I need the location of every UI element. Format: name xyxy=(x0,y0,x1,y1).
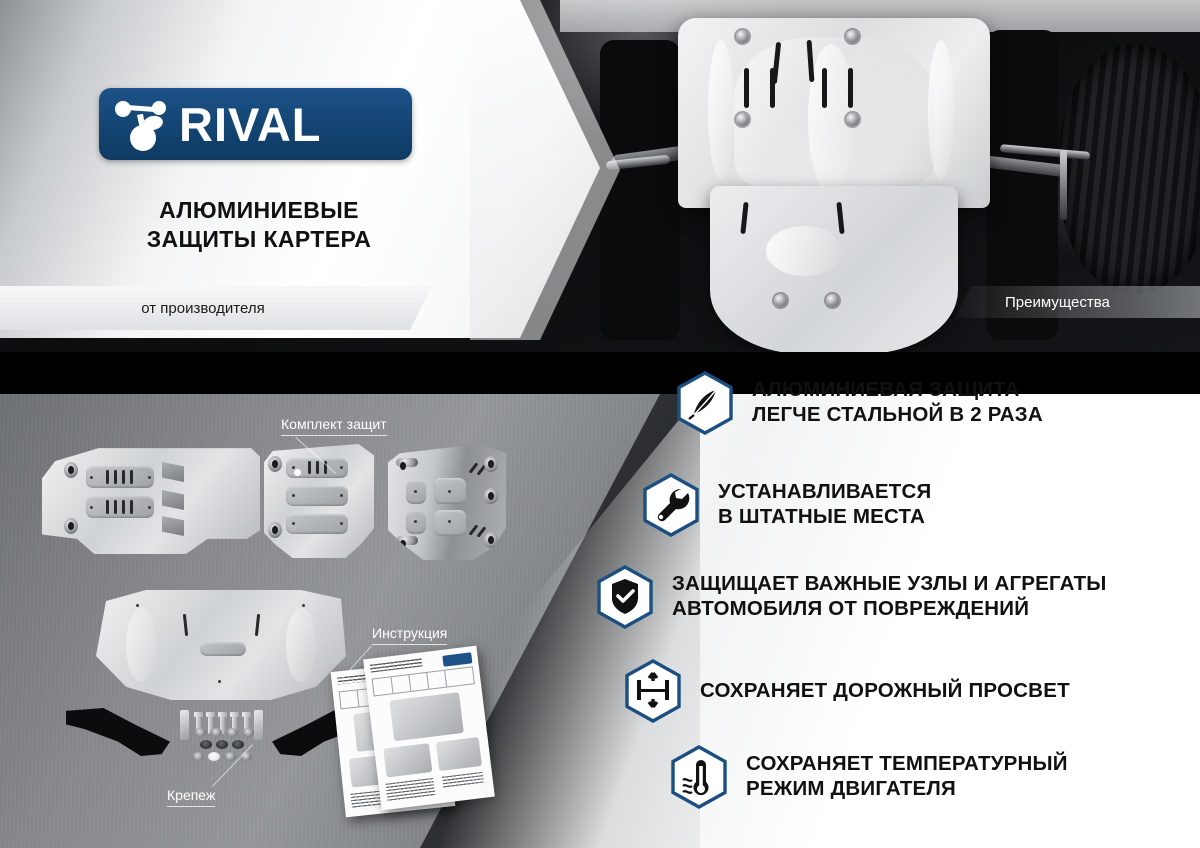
callout-kit-dot xyxy=(294,469,301,476)
plate-mount-eyelet xyxy=(268,456,282,472)
plate-mount-bolt xyxy=(826,294,839,307)
plate-vent-slot xyxy=(807,40,815,82)
plate-pad xyxy=(286,486,348,506)
installed-skid-plate-lower xyxy=(710,186,958,352)
plate-slot xyxy=(106,500,109,514)
plate-mount-bolt xyxy=(846,30,859,43)
plate-hole xyxy=(292,494,295,497)
plate-hole xyxy=(340,522,343,525)
plate-hole xyxy=(90,506,93,509)
plate-hole xyxy=(148,476,151,479)
subtitle-band: от производителя xyxy=(0,286,432,330)
callout-instruction: Инструкция xyxy=(372,625,447,645)
fastener-washer xyxy=(224,752,236,761)
plate-mount-bolt xyxy=(846,113,859,126)
plate-rib xyxy=(708,40,734,180)
mounting-bracket-left xyxy=(66,708,170,756)
plate-slot xyxy=(183,614,188,636)
plate-rib xyxy=(766,226,842,276)
fastener-plate xyxy=(254,710,263,740)
plate-mount-bolt xyxy=(736,30,749,43)
plate-mount-bolt xyxy=(736,113,749,126)
fastener-plate xyxy=(180,710,189,740)
feature-item-3: СОХРАНЯЕТ ДОРОЖНЫЙ ПРОСВЕТ xyxy=(622,658,1070,724)
plate-mount-eyelet xyxy=(64,518,78,534)
plate-slot xyxy=(130,470,133,484)
plate-pad xyxy=(200,642,246,656)
plate-hole xyxy=(148,506,151,509)
plate-slot xyxy=(130,500,133,514)
plate-rib xyxy=(928,40,954,180)
feature-label-0: АЛЮМИНИЕВАЯ ЗАЩИТАЛЕГЧЕ СТАЛЬНОЙ В 2 РАЗ… xyxy=(752,378,1043,427)
plate-gusset xyxy=(162,490,184,510)
page-title-line1: АЛЮМИНИЕВЫЕ xyxy=(99,196,419,225)
plate-mount-eyelet xyxy=(484,456,498,472)
fastener-washer xyxy=(192,752,204,761)
callout-hardware-label: Крепеж xyxy=(167,787,215,803)
rival-logo: RIVAL xyxy=(99,88,412,160)
plate-vent-slot xyxy=(740,202,748,234)
logo-wordmark: RIVAL xyxy=(179,101,322,148)
fastener-washer-dark xyxy=(200,740,212,749)
callout-underline xyxy=(372,644,447,645)
plate-vent-slot xyxy=(836,202,844,234)
plate-vent-slot xyxy=(848,68,853,108)
plate-slot xyxy=(122,500,125,514)
plate-gusset xyxy=(162,462,184,482)
wrench-icon xyxy=(640,472,702,538)
sheet-logo xyxy=(442,652,473,666)
fastener-washer xyxy=(242,728,254,737)
fastener-washer xyxy=(194,728,206,737)
installed-skid-plate-upper xyxy=(678,18,990,208)
plate-slot xyxy=(106,470,109,484)
plate-vent-slot xyxy=(744,68,749,108)
shield-check-icon xyxy=(594,564,656,630)
callout-underline xyxy=(281,435,387,436)
plate-slot xyxy=(316,461,319,474)
feature-label-3: СОХРАНЯЕТ ДОРОЖНЫЙ ПРОСВЕТ xyxy=(700,679,1070,704)
plate-slot xyxy=(255,614,260,636)
feature-label-2: ЗАЩИЩАЕТ ВАЖНЫЕ УЗЛЫ И АГРЕГАТЫАВТОМОБИЛ… xyxy=(672,572,1107,621)
plate-slot xyxy=(308,461,311,474)
poster-root: RIVAL АЛЮМИНИЕВЫЕ ЗАЩИТЫ КАРТЕРА от прои… xyxy=(0,0,1200,848)
plate-mount-eyelet xyxy=(268,522,282,538)
feature-item-2: ЗАЩИЩАЕТ ВАЖНЫЕ УЗЛЫ И АГРЕГАТЫАВТОМОБИЛ… xyxy=(594,564,1107,630)
plate-hole xyxy=(136,604,139,607)
fastener-washer-dark xyxy=(216,740,228,749)
callout-underline xyxy=(167,806,215,807)
plate-hole xyxy=(292,522,295,525)
plate-mount-eyelet xyxy=(64,462,78,478)
feature-item-1: УСТАНАВЛИВАЕТСЯВ ШТАТНЫЕ МЕСТА xyxy=(640,472,931,538)
thermometer-icon xyxy=(668,744,730,810)
fastener-washer-dark xyxy=(232,740,244,749)
subtitle-text: от производителя xyxy=(141,300,290,317)
callout-kit: Комплект защит xyxy=(281,416,387,436)
callout-kit-label: Комплект защит xyxy=(281,416,387,432)
plate-mount-bolt xyxy=(774,294,787,307)
plate-pad xyxy=(86,466,154,488)
ground-clearance-icon xyxy=(622,658,684,724)
plate-hole xyxy=(448,520,451,523)
callout-hardware: Крепеж xyxy=(167,787,215,807)
plate-mount-eyelet xyxy=(396,458,418,467)
fastener-washer xyxy=(210,728,222,737)
plate-hole xyxy=(448,490,451,493)
plate-hole xyxy=(414,490,417,493)
plate-pad xyxy=(86,496,154,518)
advantages-label: Преимущества xyxy=(1005,294,1110,311)
advantages-band: Преимущества xyxy=(955,286,1200,318)
skid-plate-left xyxy=(42,446,260,554)
plate-hole xyxy=(302,604,305,607)
plate-vent-slot xyxy=(770,68,775,108)
plate-rib xyxy=(126,608,156,682)
plate-hole xyxy=(218,680,221,683)
plate-hole xyxy=(292,466,295,469)
page-title-line2: ЗАЩИТЫ КАРТЕРА xyxy=(99,225,419,254)
feature-item-4: СОХРАНЯЕТ ТЕМПЕРАТУРНЫЙРЕЖИМ ДВИГАТЕЛЯ xyxy=(668,744,1068,810)
plate-rib xyxy=(286,608,316,682)
photo-frame-block xyxy=(600,40,680,340)
plate-slot xyxy=(114,500,117,514)
feature-item-0: АЛЮМИНИЕВАЯ ЗАЩИТАЛЕГЧЕ СТАЛЬНОЙ В 2 РАЗ… xyxy=(674,370,1043,436)
fastener-washer xyxy=(226,728,238,737)
photo-tire xyxy=(1060,44,1200,294)
plate-slot xyxy=(114,470,117,484)
plate-vent-slot xyxy=(822,68,827,108)
plate-hole xyxy=(414,520,417,523)
skid-plate-right xyxy=(388,444,506,560)
plate-mount-eyelet xyxy=(396,536,418,545)
feather-icon xyxy=(674,370,736,436)
callout-instruction-label: Инструкция xyxy=(372,625,447,641)
plate-hole xyxy=(340,466,343,469)
plate-mount-eyelet xyxy=(484,488,498,504)
plate-pad xyxy=(286,514,348,534)
fastener-washer-highlight xyxy=(208,752,220,761)
plate-hole xyxy=(340,494,343,497)
molecule-icon xyxy=(109,96,181,152)
plate-hole xyxy=(90,476,93,479)
skid-plate-middle xyxy=(264,444,374,558)
skid-plate-bottom xyxy=(96,590,346,700)
sheet-header-text xyxy=(370,658,423,672)
plate-gusset xyxy=(162,516,184,536)
feature-label-1: УСТАНАВЛИВАЕТСЯВ ШТАТНЫЕ МЕСТА xyxy=(718,480,931,529)
feature-label-4: СОХРАНЯЕТ ТЕМПЕРАТУРНЫЙРЕЖИМ ДВИГАТЕЛЯ xyxy=(746,752,1068,801)
page-title: АЛЮМИНИЕВЫЕ ЗАЩИТЫ КАРТЕРА xyxy=(99,196,419,255)
advantages-list: АЛЮМИНИЕВАЯ ЗАЩИТАЛЕГЧЕ СТАЛЬНОЙ В 2 РАЗ… xyxy=(612,362,1200,848)
photo-stabilizer-link xyxy=(1060,150,1067,220)
plate-pad xyxy=(434,510,466,536)
plate-mount-eyelet xyxy=(484,532,498,548)
plate-slot xyxy=(122,470,125,484)
